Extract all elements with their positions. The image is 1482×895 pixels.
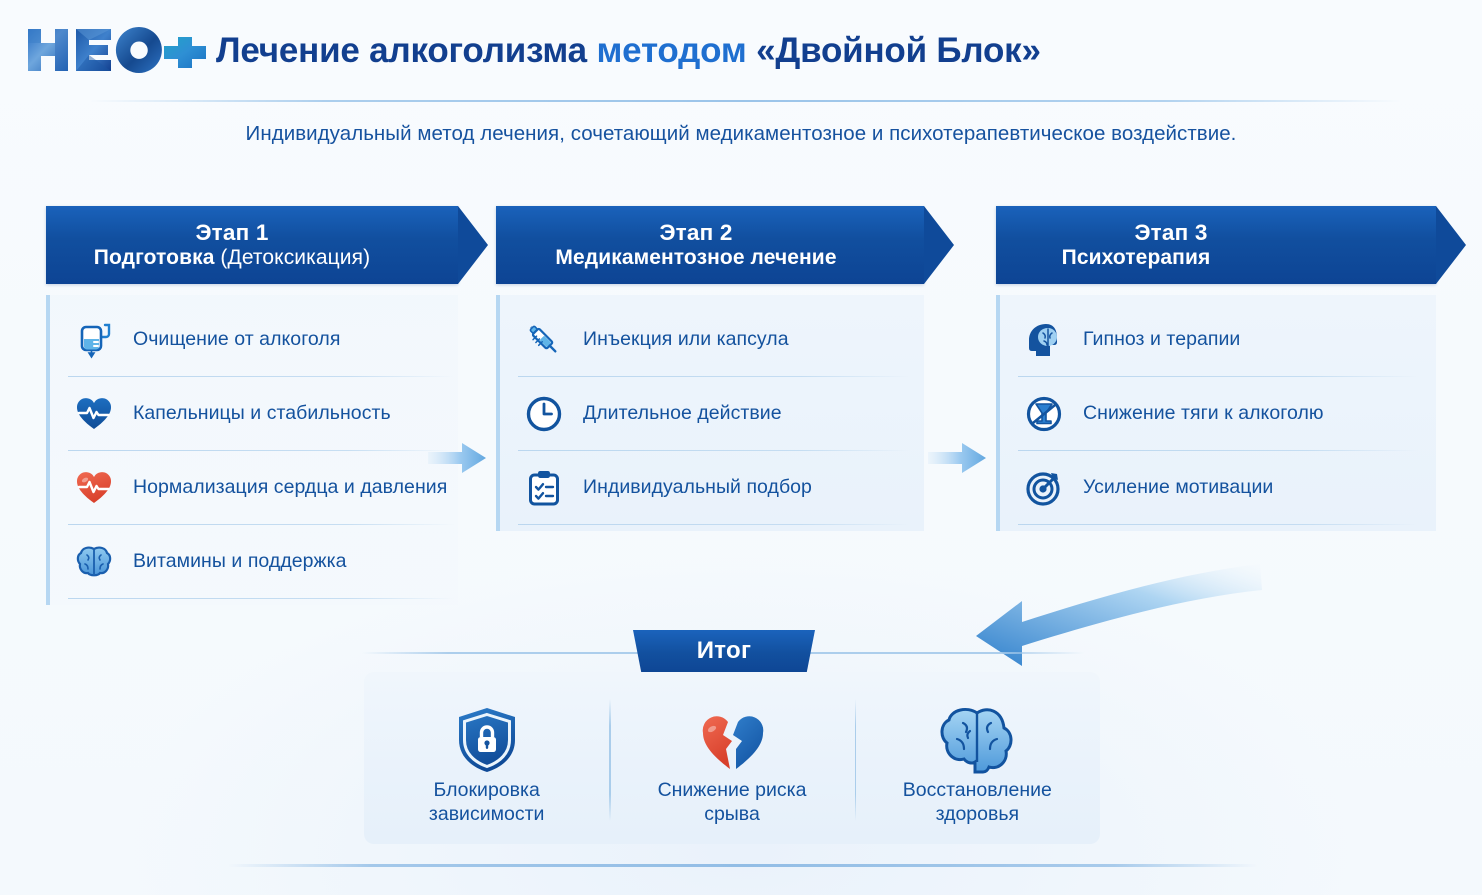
result-card: Блокировка зависимости Снижение риска ср… bbox=[364, 672, 1100, 844]
stage-1-body: Очищение от алкоголя Капельницы и стабил… bbox=[46, 295, 458, 605]
heart-pulse-red-icon bbox=[72, 466, 116, 510]
list-item-label: Нормализация сердца и давления bbox=[133, 477, 447, 498]
list-item[interactable]: Индивидуальный подбор bbox=[500, 451, 924, 525]
list-item-label: Снижение тяги к алкоголю bbox=[1083, 403, 1324, 424]
list-item-label: Гипноз и терапии bbox=[1083, 329, 1240, 350]
result-item[interactable]: Блокировка зависимости bbox=[364, 693, 609, 823]
stage-1: Этап 1 Подготовка (Детоксикация) bbox=[46, 206, 458, 605]
result-badge-label: Итог bbox=[697, 637, 752, 665]
stage-1-number: Этап 1 bbox=[195, 220, 268, 245]
stage-3: Этап 3 Психотерапия Гипноз и терапии bbox=[996, 206, 1436, 531]
result-item-label: Восстановление здоровья bbox=[903, 779, 1052, 827]
stage-2-number: Этап 2 bbox=[659, 220, 732, 245]
stage-3-name: Психотерапия bbox=[1062, 246, 1211, 270]
result-item[interactable]: Снижение риска срыва bbox=[609, 693, 854, 823]
bottom-divider bbox=[228, 864, 1258, 867]
broken-heart-icon bbox=[696, 705, 768, 775]
no-alcohol-glass-icon bbox=[1022, 392, 1066, 436]
list-item[interactable]: Нормализация сердца и давления bbox=[50, 451, 458, 525]
stage-3-header: Этап 3 Психотерапия bbox=[996, 206, 1436, 284]
stage-3-name-strong: Психотерапия bbox=[1062, 246, 1211, 269]
list-item[interactable]: Инъекция или капсула bbox=[500, 303, 924, 377]
list-item[interactable]: Очищение от алкоголя bbox=[50, 303, 458, 377]
list-item-label: Витамины и поддержка bbox=[133, 551, 347, 572]
stage-1-name: Подготовка (Детоксикация) bbox=[94, 246, 370, 270]
clock-icon bbox=[522, 392, 566, 436]
title-part-1: Лечение алкоголизма bbox=[216, 31, 587, 70]
page-header: Лечение алкоголизма методом «Двойной Бло… bbox=[0, 0, 1482, 100]
list-item-label: Капельницы и стабильность bbox=[133, 403, 391, 424]
list-item-label: Индивидуальный подбор bbox=[583, 477, 812, 498]
page-subtitle: Индивидуальный метод лечения, сочетающий… bbox=[0, 122, 1482, 146]
list-item-label: Длительное действие bbox=[583, 403, 782, 424]
list-item[interactable]: Гипноз и терапии bbox=[1000, 303, 1436, 377]
result-item[interactable]: Восстановление здоровья bbox=[855, 693, 1100, 823]
brain-icon bbox=[72, 540, 116, 584]
target-arrow-icon bbox=[1022, 466, 1066, 510]
list-item[interactable]: Капельницы и стабильность bbox=[50, 377, 458, 451]
list-item-label: Инъекция или капсула bbox=[583, 329, 789, 350]
list-item[interactable]: Снижение тяги к алкоголю bbox=[1000, 377, 1436, 451]
stage-2: Этап 2 Медикаментозное лечение bbox=[496, 206, 924, 531]
stage-2-name: Медикаментозное лечение bbox=[555, 246, 836, 270]
list-item-label: Усиление мотивации bbox=[1083, 477, 1273, 498]
result-item-label: Блокировка зависимости bbox=[429, 779, 545, 827]
iv-drip-icon bbox=[72, 318, 116, 362]
stages-container: Этап 1 Подготовка (Детоксикация) bbox=[0, 206, 1482, 626]
stage-1-name-light: (Детоксикация) bbox=[220, 246, 370, 269]
result-item-label: Снижение риска срыва bbox=[658, 779, 807, 827]
stage-2-name-strong: Медикаментозное лечение bbox=[555, 246, 836, 269]
head-brain-icon bbox=[1022, 318, 1066, 362]
title-part-3: «Двойной Блок» bbox=[756, 31, 1041, 70]
clipboard-check-icon bbox=[522, 466, 566, 510]
heart-pulse-blue-icon bbox=[72, 392, 116, 436]
stage-3-number: Этап 3 bbox=[1134, 220, 1207, 245]
header-divider bbox=[90, 100, 1400, 102]
stage-2-header: Этап 2 Медикаментозное лечение bbox=[496, 206, 924, 284]
stage-1-header: Этап 1 Подготовка (Детоксикация) bbox=[46, 206, 458, 284]
arrow-right-icon bbox=[928, 438, 990, 478]
stage-2-body: Инъекция или капсула Длительное действие bbox=[496, 295, 924, 531]
neo-plus-logo bbox=[26, 23, 210, 77]
title-part-2: методом bbox=[596, 31, 746, 70]
shield-lock-icon bbox=[455, 705, 519, 775]
page-title: Лечение алкоголизма методом «Двойной Бло… bbox=[216, 33, 1041, 68]
stage-1-name-strong: Подготовка bbox=[94, 246, 215, 269]
result-badge: Итог bbox=[633, 630, 815, 672]
list-item[interactable]: Усиление мотивации bbox=[1000, 451, 1436, 525]
syringe-icon bbox=[522, 318, 566, 362]
arrow-right-icon bbox=[428, 438, 490, 478]
list-item-label: Очищение от алкоголя bbox=[133, 329, 340, 350]
brain-icon bbox=[937, 705, 1017, 775]
list-item[interactable]: Витамины и поддержка bbox=[50, 525, 458, 599]
list-item[interactable]: Длительное действие bbox=[500, 377, 924, 451]
stage-3-body: Гипноз и терапии Снижение тяги к алкогол… bbox=[996, 295, 1436, 531]
